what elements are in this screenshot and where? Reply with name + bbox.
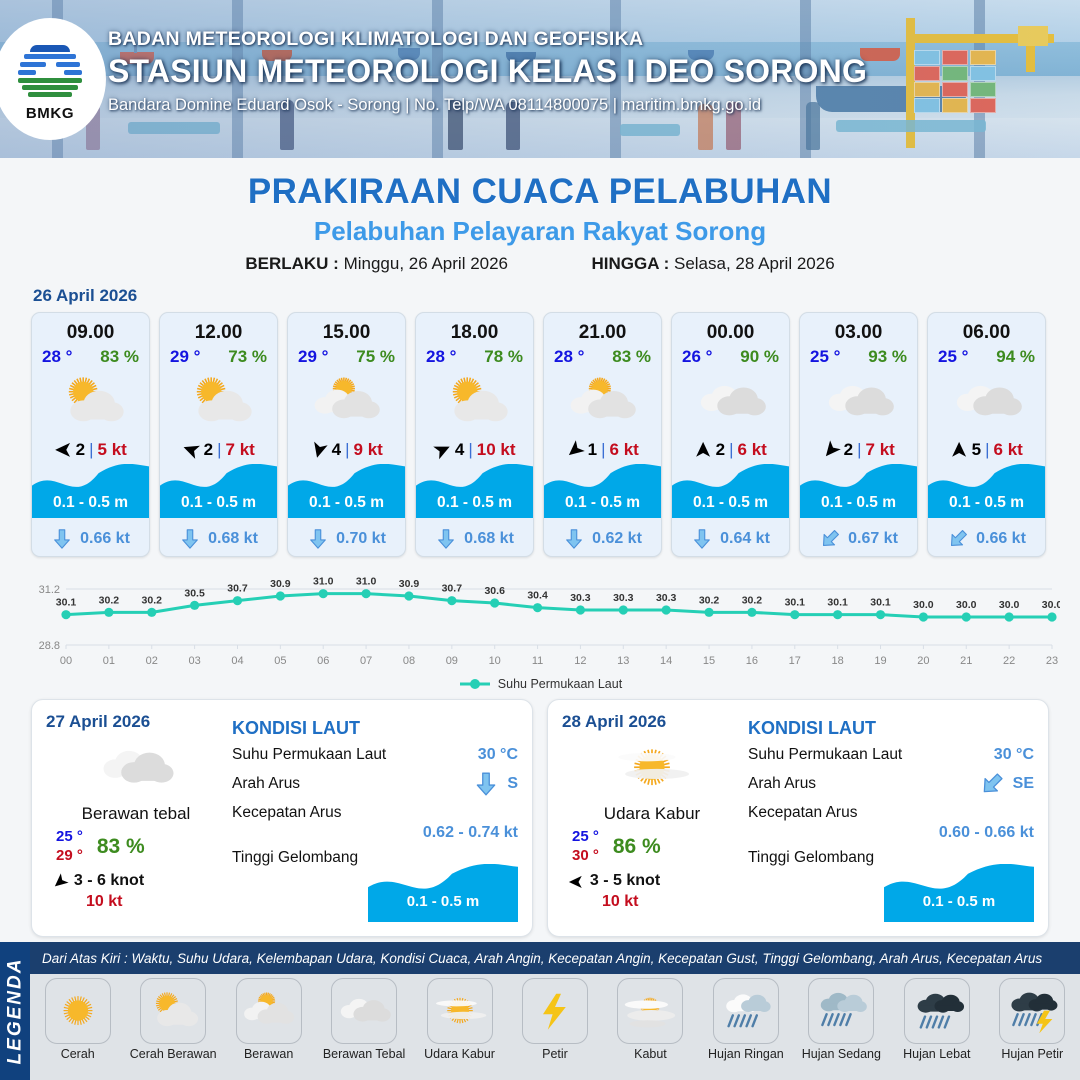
card-time: 18.00 — [416, 313, 533, 344]
card-wind: ➤2|5 kt — [32, 435, 149, 465]
card-weather-berawan-icon — [288, 369, 405, 435]
sea-condition-label: Arah Arus — [232, 775, 300, 793]
card-time: 09.00 — [32, 313, 149, 344]
sst-chart: 31.228.830.10030.20130.20230.50330.70430… — [20, 567, 1060, 675]
legend-side-banner: LEGENDA — [0, 942, 30, 1080]
legend-item-label: Petir — [542, 1047, 568, 1061]
svg-text:20: 20 — [917, 655, 929, 667]
day-wind-range: 3 - 6 knot — [74, 872, 144, 890]
daily-forecast-panel[interactable]: 27 April 2026Berawan tebal25 °29 °83 %➤3… — [31, 699, 533, 937]
card-weather-cerah-berawan-icon — [32, 369, 149, 435]
day-temp-range: 25 °29 ° — [56, 828, 83, 866]
svg-text:30.3: 30.3 — [570, 592, 591, 604]
card-weather-berawan-tebal-icon — [672, 369, 789, 435]
current-direction-value: SE — [1013, 775, 1034, 793]
legend-item-label: Berawan Tebal — [323, 1047, 405, 1061]
card-wave-height: 0.1 - 0.5 m — [928, 494, 1045, 512]
card-current-speed: 0.62 kt — [592, 530, 642, 548]
card-time: 15.00 — [288, 313, 405, 344]
svg-text:21: 21 — [960, 655, 972, 667]
card-values: 28 °83 % — [32, 344, 149, 367]
header-agency-name: BADAN METEOROLOGI KLIMATOLOGI DAN GEOFIS… — [108, 28, 867, 51]
svg-text:31.2: 31.2 — [39, 584, 60, 596]
card-humidity: 90 % — [740, 347, 779, 367]
svg-text:30.7: 30.7 — [442, 583, 463, 595]
card-weather-berawan-icon — [544, 369, 661, 435]
forecast-card[interactable]: 00.0026 °90 %➤2|6 kt0.1 - 0.5 m0.64 kt — [671, 312, 790, 557]
card-values: 25 °94 % — [928, 344, 1045, 367]
forecast-card[interactable]: 21.0028 °83 %➤1|6 kt0.1 - 0.5 m0.62 kt — [543, 312, 662, 557]
card-wave-height: 0.1 - 0.5 m — [160, 494, 277, 512]
card-wind-separator: | — [217, 440, 221, 460]
card-wind-speed: 6 kt — [610, 440, 639, 460]
svg-text:12: 12 — [574, 655, 586, 667]
daily-forecast-row: 27 April 2026Berawan tebal25 °29 °83 %➤3… — [0, 691, 1080, 937]
card-wind-speed: 7 kt — [866, 440, 895, 460]
svg-text:09: 09 — [446, 655, 458, 667]
legend-item-label: Hujan Sedang — [802, 1047, 881, 1061]
legend-kabut-icon — [617, 978, 683, 1044]
legend-item: Udara Kabur — [412, 974, 507, 1061]
sea-surface-temp-value: 30 °C — [994, 746, 1034, 764]
legend-item: Berawan — [221, 974, 316, 1061]
svg-text:15: 15 — [703, 655, 715, 667]
card-wind-direction: 4 — [332, 440, 341, 460]
card-wave-height: 0.1 - 0.5 m — [288, 494, 405, 512]
svg-text:18: 18 — [832, 655, 844, 667]
legend-item-label: Hujan Petir — [1001, 1047, 1063, 1061]
card-temperature: 28 ° — [42, 347, 72, 367]
day-temp-min: 25 ° — [572, 828, 599, 847]
header-text-block: BADAN METEOROLOGI KLIMATOLOGI DAN GEOFIS… — [108, 28, 867, 115]
svg-text:03: 03 — [188, 655, 200, 667]
day-temp-max: 30 ° — [572, 847, 599, 866]
svg-text:00: 00 — [60, 655, 72, 667]
day-humidity: 83 % — [97, 835, 145, 859]
card-current: 0.67 kt — [800, 528, 917, 550]
svg-text:30.9: 30.9 — [270, 578, 291, 590]
card-time: 12.00 — [160, 313, 277, 344]
card-temperature: 26 ° — [682, 347, 712, 367]
card-current-speed: 0.68 kt — [464, 530, 514, 548]
card-wind-separator: | — [985, 440, 989, 460]
card-wind-separator: | — [729, 440, 733, 460]
sea-conditions-title: KONDISI LAUT — [232, 718, 518, 739]
svg-text:30.9: 30.9 — [399, 578, 420, 590]
card-current: 0.62 kt — [544, 528, 661, 550]
validity-row: BERLAKU : Minggu, 26 April 2026 HINGGA :… — [0, 254, 1080, 274]
day-wave-height: 0.1 - 0.5 m — [368, 893, 518, 910]
wind-direction-arrow-icon: ➤ — [817, 436, 846, 464]
current-direction-arrow-icon — [563, 528, 585, 550]
svg-text:31.0: 31.0 — [313, 576, 334, 588]
current-direction-arrow-icon — [51, 528, 73, 550]
legend-hujan-petir-icon — [999, 978, 1065, 1044]
legend-item: Kabut — [603, 974, 698, 1061]
day-condition: Berawan tebal — [46, 804, 226, 824]
legend-udara-kabur-icon — [427, 978, 493, 1044]
day-temp-max: 29 ° — [56, 847, 83, 866]
day-wave-height: 0.1 - 0.5 m — [884, 893, 1034, 910]
valid-until-value: Selasa, 28 April 2026 — [674, 254, 835, 273]
wind-direction-arrow-icon: ➤ — [54, 439, 72, 461]
svg-text:30.4: 30.4 — [527, 590, 548, 602]
svg-text:30.1: 30.1 — [785, 597, 806, 609]
card-wind-separator: | — [89, 440, 93, 460]
current-direction-arrow-icon — [943, 523, 974, 554]
card-humidity: 94 % — [996, 347, 1035, 367]
svg-text:01: 01 — [103, 655, 115, 667]
card-temperature: 25 ° — [810, 347, 840, 367]
card-humidity: 83 % — [612, 347, 651, 367]
day-temp-range: 25 °30 ° — [572, 828, 599, 866]
card-wind-speed: 9 kt — [354, 440, 383, 460]
svg-text:07: 07 — [360, 655, 372, 667]
day-date: 28 April 2026 — [562, 712, 742, 732]
legend-item-label: Hujan Ringan — [708, 1047, 784, 1061]
hourly-forecast-row: 09.0028 °83 %➤2|5 kt0.1 - 0.5 m0.66 kt12… — [0, 312, 1080, 557]
daily-forecast-panel[interactable]: 28 April 2026Udara Kabur25 °30 °86 %➤3 -… — [547, 699, 1049, 937]
page-subtitle: Pelabuhan Pelayaran Rakyat Sorong — [0, 216, 1080, 247]
card-time: 06.00 — [928, 313, 1045, 344]
legend-petir-icon — [522, 978, 588, 1044]
sea-condition-row: Suhu Permukaan Laut30 °C — [748, 746, 1034, 764]
day-gust-speed: 10 kt — [46, 893, 226, 911]
card-wind: ➤4|10 kt — [416, 435, 533, 465]
svg-text:05: 05 — [274, 655, 286, 667]
svg-text:06: 06 — [317, 655, 329, 667]
legend-item-label: Cerah — [61, 1047, 95, 1061]
current-direction-arrow-icon — [179, 528, 201, 550]
svg-text:13: 13 — [617, 655, 629, 667]
day-sea-conditions: KONDISI LAUTSuhu Permukaan Laut30 °CArah… — [226, 712, 518, 924]
legend-item: Hujan Lebat — [889, 974, 984, 1061]
wind-direction-arrow-icon: ➤ — [179, 437, 204, 464]
day-humidity: 86 % — [613, 835, 661, 859]
card-values: 29 °73 % — [160, 344, 277, 367]
day-wind-range: 3 - 5 knot — [590, 872, 660, 890]
sea-condition-row: Kecepatan Arus — [232, 804, 518, 822]
card-values: 26 °90 % — [672, 344, 789, 367]
svg-text:23: 23 — [1046, 655, 1058, 667]
day-panel-left: 27 April 2026Berawan tebal25 °29 °83 %➤3… — [46, 712, 226, 924]
card-wind: ➤1|6 kt — [544, 435, 661, 465]
legend-item: Hujan Petir — [985, 974, 1080, 1061]
sea-condition-row: Arah ArusSE — [748, 771, 1034, 797]
valid-from-label: BERLAKU : — [245, 254, 339, 273]
card-time: 03.00 — [800, 313, 917, 344]
card-humidity: 73 % — [228, 347, 267, 367]
svg-text:14: 14 — [660, 655, 672, 667]
card-current: 0.68 kt — [160, 528, 277, 550]
legend-items: CerahCerah BerawanBerawanBerawan TebalUd… — [30, 974, 1080, 1080]
svg-text:30.0: 30.0 — [999, 599, 1020, 611]
svg-text:30.0: 30.0 — [913, 599, 934, 611]
legend-item: Berawan Tebal — [316, 974, 411, 1061]
svg-text:04: 04 — [231, 655, 243, 667]
card-humidity: 78 % — [484, 347, 523, 367]
wind-direction-arrow-icon: ➤ — [561, 436, 589, 465]
legend-item: Hujan Ringan — [698, 974, 793, 1061]
card-wind: ➤5|6 kt — [928, 435, 1045, 465]
forecast-card[interactable]: 18.0028 °78 %➤4|10 kt0.1 - 0.5 m0.68 kt — [415, 312, 534, 557]
svg-text:30.5: 30.5 — [184, 587, 205, 599]
valid-from-value: Minggu, 26 April 2026 — [344, 254, 508, 273]
legend-note: Dari Atas Kiri : Waktu, Suhu Udara, Kele… — [30, 951, 1042, 966]
card-temperature: 29 ° — [170, 347, 200, 367]
sea-condition-label: Suhu Permukaan Laut — [232, 746, 386, 764]
valid-until-label: HINGGA : — [591, 254, 669, 273]
card-wave-height: 0.1 - 0.5 m — [416, 494, 533, 512]
forecast-card[interactable]: 03.0025 °93 %➤2|7 kt0.1 - 0.5 m0.67 kt — [799, 312, 918, 557]
header-contact-info: Bandara Domine Eduard Osok - Sorong | No… — [108, 96, 867, 115]
svg-text:30.2: 30.2 — [742, 594, 763, 606]
card-temperature: 25 ° — [938, 347, 968, 367]
sea-condition-label: Kecepatan Arus — [232, 804, 341, 822]
current-direction-value: S — [507, 775, 518, 793]
card-current-speed: 0.66 kt — [80, 530, 130, 548]
current-speed-value: 0.60 - 0.66 kt — [748, 824, 1034, 842]
current-direction-group: S — [473, 771, 518, 797]
day-gust-speed: 10 kt — [562, 893, 742, 911]
card-temperature: 29 ° — [298, 347, 328, 367]
card-temperature: 28 ° — [426, 347, 456, 367]
legend-berawan-icon — [236, 978, 302, 1044]
day-sea-conditions: KONDISI LAUTSuhu Permukaan Laut30 °CArah… — [742, 712, 1034, 924]
forecast-card[interactable]: 15.0029 °75 %➤4|9 kt0.1 - 0.5 m0.70 kt — [287, 312, 406, 557]
card-humidity: 75 % — [356, 347, 395, 367]
card-wind-speed: 5 kt — [98, 440, 127, 460]
card-values: 28 °78 % — [416, 344, 533, 367]
svg-text:17: 17 — [789, 655, 801, 667]
bmkg-logo-mark — [18, 41, 82, 103]
card-weather-berawan-tebal-icon — [928, 369, 1045, 435]
legend-hujan-sedang-icon — [808, 978, 874, 1044]
svg-text:31.0: 31.0 — [356, 576, 377, 588]
sst-chart-svg: 31.228.830.10030.20130.20230.50330.70430… — [20, 567, 1060, 675]
card-wind: ➤2|7 kt — [160, 435, 277, 465]
sea-condition-label: Arah Arus — [748, 775, 816, 793]
wind-direction-arrow-icon: ➤ — [692, 441, 714, 459]
card-wave-height: 0.1 - 0.5 m — [32, 494, 149, 512]
current-direction-arrow-icon — [973, 766, 1010, 803]
day-wind-direction-arrow-icon: ➤ — [568, 872, 584, 891]
current-direction-arrow-icon — [307, 528, 329, 550]
svg-text:08: 08 — [403, 655, 415, 667]
svg-text:30.1: 30.1 — [870, 597, 891, 609]
card-wave-height: 0.1 - 0.5 m — [672, 494, 789, 512]
svg-text:19: 19 — [874, 655, 886, 667]
card-wind-separator: | — [857, 440, 861, 460]
current-direction-arrow-icon — [473, 771, 499, 797]
wind-direction-arrow-icon: ➤ — [430, 436, 456, 464]
card-current: 0.68 kt — [416, 528, 533, 550]
current-direction-group: SE — [979, 771, 1034, 797]
day-temp-min: 25 ° — [56, 828, 83, 847]
svg-text:30.2: 30.2 — [699, 594, 720, 606]
card-wind: ➤2|7 kt — [800, 435, 917, 465]
card-current: 0.70 kt — [288, 528, 405, 550]
card-wind-direction: 4 — [455, 440, 464, 460]
day-date: 27 April 2026 — [46, 712, 226, 732]
current-direction-arrow-icon — [435, 528, 457, 550]
header-station-name: STASIUN METEOROLOGI KELAS I DEO SORONG — [108, 53, 867, 90]
page-header: BMKG BADAN METEOROLOGI KLIMATOLOGI DAN G… — [0, 0, 1080, 158]
day-wind: ➤3 - 6 knot — [46, 872, 226, 891]
card-weather-berawan-tebal-icon — [800, 369, 917, 435]
svg-text:16: 16 — [746, 655, 758, 667]
card-current: 0.64 kt — [672, 528, 789, 550]
svg-text:22: 22 — [1003, 655, 1015, 667]
card-weather-cerah-berawan-icon — [416, 369, 533, 435]
day-temps-humidity: 25 °29 °83 % — [46, 828, 226, 866]
day-wind: ➤3 - 5 knot — [562, 872, 742, 891]
legend-item-label: Kabut — [634, 1047, 667, 1061]
sea-condition-label: Suhu Permukaan Laut — [748, 746, 902, 764]
card-wind-direction: 2 — [204, 440, 213, 460]
legend-section: LEGENDA Dari Atas Kiri : Waktu, Suhu Uda… — [0, 942, 1080, 1080]
bmkg-logo-text: BMKG — [26, 105, 74, 122]
card-wind-direction: 5 — [972, 440, 981, 460]
card-weather-cerah-berawan-icon — [160, 369, 277, 435]
forecast-card[interactable]: 09.0028 °83 %➤2|5 kt0.1 - 0.5 m0.66 kt — [31, 312, 150, 557]
card-values: 28 °83 % — [544, 344, 661, 367]
svg-text:30.0: 30.0 — [1042, 599, 1060, 611]
card-wind-speed: 6 kt — [738, 440, 767, 460]
card-current: 0.66 kt — [32, 528, 149, 550]
legend-cerah-icon — [45, 978, 111, 1044]
sea-condition-label: Kecepatan Arus — [748, 804, 857, 822]
chart-legend-label: Suhu Permukaan Laut — [498, 677, 622, 691]
card-wind-direction: 2 — [716, 440, 725, 460]
day-temps-humidity: 25 °30 °86 % — [562, 828, 742, 866]
legend-berawan-tebal-icon — [331, 978, 397, 1044]
svg-text:30.3: 30.3 — [613, 592, 634, 604]
legend-item-label: Berawan — [244, 1047, 293, 1061]
day-condition: Udara Kabur — [562, 804, 742, 824]
wind-direction-arrow-icon: ➤ — [306, 438, 332, 462]
chart-legend: Suhu Permukaan Laut — [0, 677, 1080, 691]
svg-text:30.1: 30.1 — [56, 597, 77, 609]
card-wind-separator: | — [468, 440, 472, 460]
card-temperature: 28 ° — [554, 347, 584, 367]
sea-condition-label: Tinggi Gelombang — [232, 849, 358, 867]
card-values: 25 °93 % — [800, 344, 917, 367]
card-wind: ➤2|6 kt — [672, 435, 789, 465]
legend-cerah-berawan-icon — [140, 978, 206, 1044]
card-wave-height: 0.1 - 0.5 m — [544, 494, 661, 512]
sea-condition-row: Kecepatan Arus — [748, 804, 1034, 822]
svg-text:11: 11 — [532, 655, 543, 667]
page-title: PRAKIRAAN CUACA PELABUHAN — [0, 172, 1080, 212]
svg-text:30.6: 30.6 — [484, 585, 505, 597]
svg-text:28.8: 28.8 — [39, 640, 60, 652]
card-wind-direction: 1 — [588, 440, 597, 460]
legend-hujan-lebat-icon — [904, 978, 970, 1044]
card-current-speed: 0.64 kt — [720, 530, 770, 548]
card-current-speed: 0.70 kt — [336, 530, 386, 548]
card-humidity: 93 % — [868, 347, 907, 367]
card-wind-separator: | — [345, 440, 349, 460]
legend-item: Cerah Berawan — [125, 974, 220, 1061]
svg-text:30.0: 30.0 — [956, 599, 977, 611]
current-direction-arrow-icon — [815, 523, 846, 554]
legend-item: Petir — [507, 974, 602, 1061]
card-wind: ➤4|9 kt — [288, 435, 405, 465]
chart-legend-marker — [458, 678, 492, 690]
card-time: 21.00 — [544, 313, 661, 344]
sea-condition-row: Arah ArusS — [232, 771, 518, 797]
card-current: 0.66 kt — [928, 528, 1045, 550]
card-wind-direction: 2 — [76, 440, 85, 460]
svg-text:30.2: 30.2 — [99, 594, 120, 606]
current-direction-arrow-icon — [691, 528, 713, 550]
legend-item: Hujan Sedang — [794, 974, 889, 1061]
card-values: 29 °75 % — [288, 344, 405, 367]
title-section: PRAKIRAAN CUACA PELABUHAN Pelabuhan Pela… — [0, 158, 1080, 274]
card-current-speed: 0.66 kt — [976, 530, 1026, 548]
day-weather-udara-kabur-icon — [562, 736, 742, 800]
day-weather-berawan-tebal-icon — [46, 736, 226, 800]
card-wind-speed: 6 kt — [994, 440, 1023, 460]
svg-text:30.7: 30.7 — [227, 583, 248, 595]
legend-item: Cerah — [30, 974, 125, 1061]
sea-condition-label: Tinggi Gelombang — [748, 849, 874, 867]
sea-condition-row: Suhu Permukaan Laut30 °C — [232, 746, 518, 764]
card-wind-separator: | — [601, 440, 605, 460]
card-current-speed: 0.68 kt — [208, 530, 258, 548]
legend-side-label: LEGENDA — [4, 958, 26, 1065]
current-speed-value: 0.62 - 0.74 kt — [232, 824, 518, 842]
svg-text:10: 10 — [489, 655, 501, 667]
legend-item-label: Udara Kabur — [424, 1047, 495, 1061]
day-wind-direction-arrow-icon: ➤ — [48, 869, 72, 894]
card-humidity: 83 % — [100, 347, 139, 367]
svg-text:30.2: 30.2 — [142, 594, 163, 606]
card-current-speed: 0.67 kt — [848, 530, 898, 548]
day-panel-left: 28 April 2026Udara Kabur25 °30 °86 %➤3 -… — [562, 712, 742, 924]
svg-text:02: 02 — [146, 655, 158, 667]
legend-item-label: Cerah Berawan — [130, 1047, 217, 1061]
svg-text:30.1: 30.1 — [827, 597, 848, 609]
legend-item-label: Hujan Lebat — [903, 1047, 970, 1061]
forecast-date: 26 April 2026 — [33, 286, 1080, 306]
forecast-card[interactable]: 06.0025 °94 %➤5|6 kt0.1 - 0.5 m0.66 kt — [927, 312, 1046, 557]
legend-note-bar: Dari Atas Kiri : Waktu, Suhu Udara, Kele… — [30, 942, 1080, 974]
card-time: 00.00 — [672, 313, 789, 344]
card-wind-speed: 10 kt — [477, 440, 516, 460]
sea-conditions-title: KONDISI LAUT — [748, 718, 1034, 739]
wind-direction-arrow-icon: ➤ — [948, 441, 970, 459]
legend-hujan-ringan-icon — [713, 978, 779, 1044]
svg-text:30.3: 30.3 — [656, 592, 677, 604]
card-wave-height: 0.1 - 0.5 m — [800, 494, 917, 512]
sea-surface-temp-value: 30 °C — [478, 746, 518, 764]
forecast-card[interactable]: 12.0029 °73 %➤2|7 kt0.1 - 0.5 m0.68 kt — [159, 312, 278, 557]
card-wind-speed: 7 kt — [226, 440, 255, 460]
